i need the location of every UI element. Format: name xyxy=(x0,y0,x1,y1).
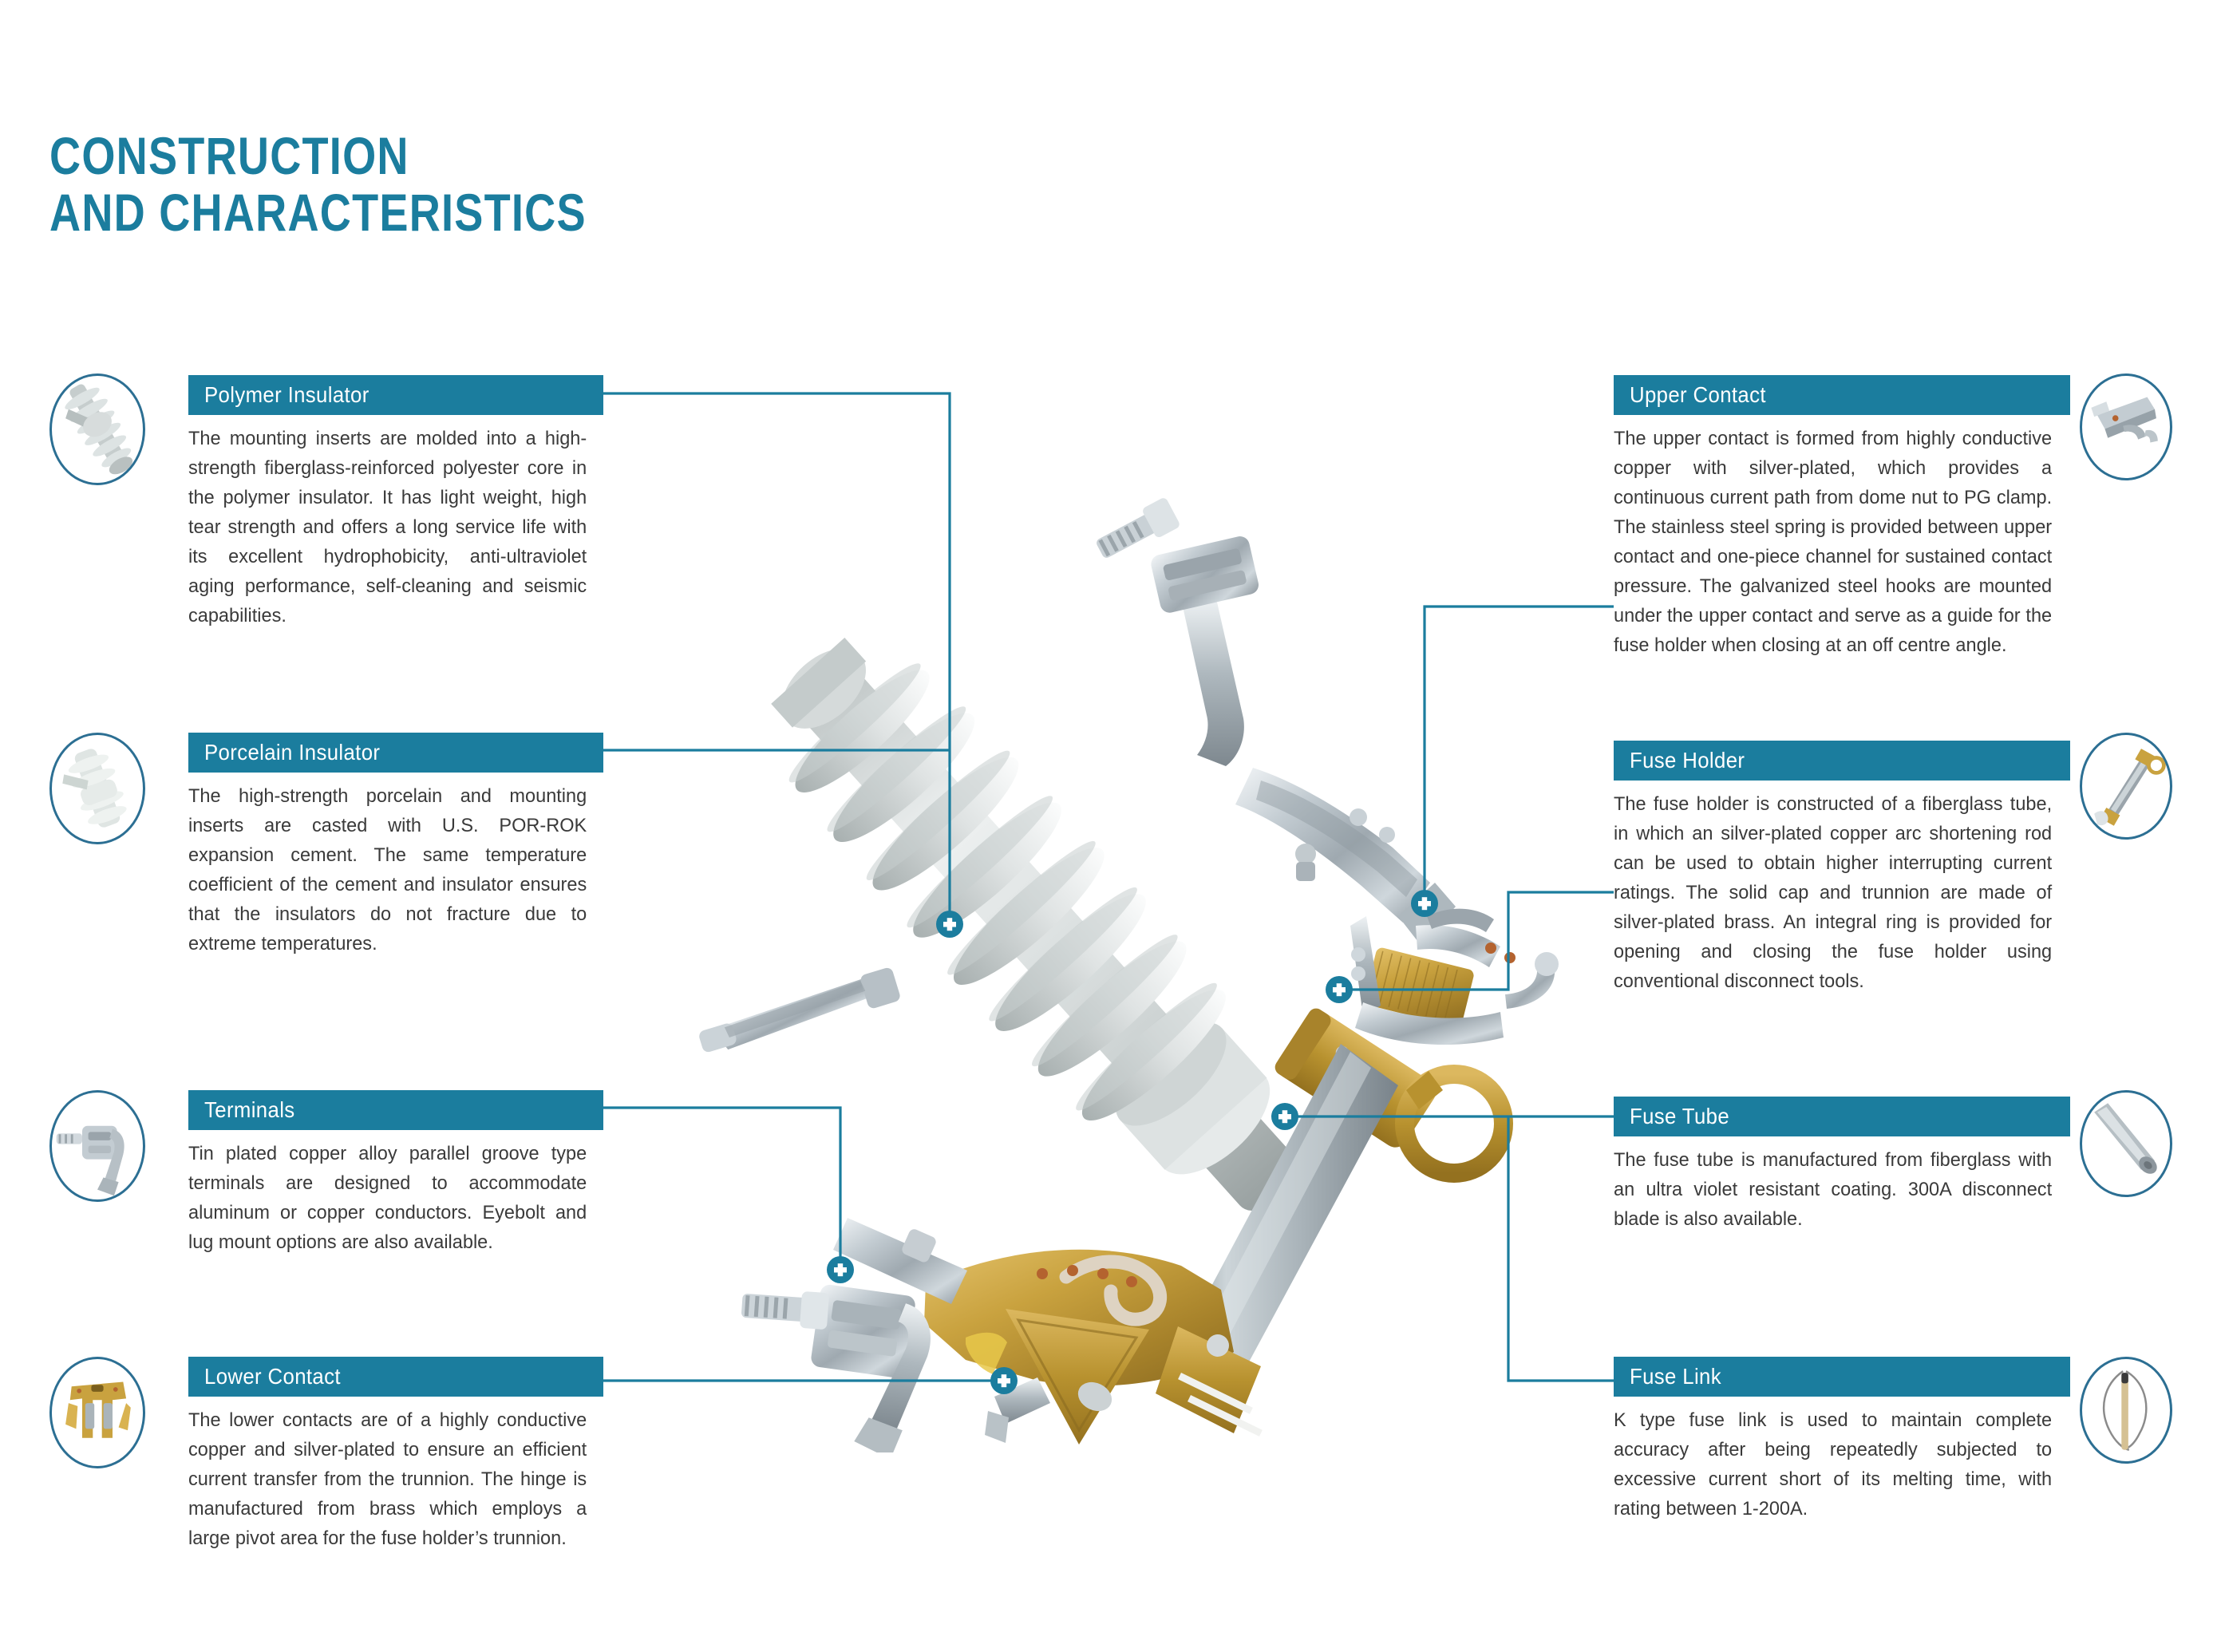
card-header-terminals: Terminals xyxy=(188,1090,603,1130)
pull-ring xyxy=(1405,1071,1504,1173)
card-body-polymer-insulator: The mounting inserts are molded into a h… xyxy=(188,424,587,630)
card-title-fuse-holder: Fuse Holder xyxy=(1630,741,1745,781)
icon-bubble-fuse-tube xyxy=(2080,1090,2172,1197)
card-lower-contact: Lower Contact The lower contacts are of … xyxy=(188,1357,603,1553)
card-upper-contact: Upper Contact The upper contact is forme… xyxy=(1614,375,2070,660)
card-body-fuse-tube: The fuse tube is manufactured from fiber… xyxy=(1614,1145,2052,1234)
fuse-tube-photo-icon xyxy=(2082,1093,2170,1194)
icon-bubble-lower-contact xyxy=(49,1357,145,1468)
construction-and-characteristics-page: CONSTRUCTION AND CHARACTERISTICS xyxy=(0,0,2217,1652)
card-title-porcelain-insulator: Porcelain Insulator xyxy=(204,733,380,773)
card-title-upper-contact: Upper Contact xyxy=(1630,375,1766,415)
fuse-link-photo-icon xyxy=(2082,1359,2170,1460)
card-terminals: Terminals Tin plated copper alloy parall… xyxy=(188,1090,603,1257)
card-body-upper-contact: The upper contact is formed from highly … xyxy=(1614,424,2052,660)
page-title-line-2: AND CHARACTERISTICS xyxy=(49,184,587,241)
card-body-porcelain-insulator: The high-strength porcelain and mounting… xyxy=(188,781,587,958)
card-title-fuse-link: Fuse Link xyxy=(1630,1357,1721,1397)
card-header-fuse-tube: Fuse Tube xyxy=(1614,1097,2070,1136)
card-fuse-holder: Fuse Holder The fuse holder is construct… xyxy=(1614,741,2070,996)
fuse-holder-photo-icon xyxy=(2082,735,2170,836)
lower-contact-photo-icon xyxy=(52,1359,143,1465)
card-fuse-link: Fuse Link K type fuse link is used to ma… xyxy=(1614,1357,2070,1524)
icon-bubble-polymer-insulator xyxy=(49,373,145,485)
card-title-terminals: Terminals xyxy=(204,1090,295,1130)
card-header-fuse-link: Fuse Link xyxy=(1614,1357,2070,1397)
card-header-polymer-insulator: Polymer Insulator xyxy=(188,375,603,415)
card-body-fuse-link: K type fuse link is used to maintain com… xyxy=(1614,1405,2052,1524)
card-header-porcelain-insulator: Porcelain Insulator xyxy=(188,733,603,773)
card-title-lower-contact: Lower Contact xyxy=(204,1357,341,1397)
upper-contact-photo-icon xyxy=(2082,376,2170,477)
icon-bubble-porcelain-insulator xyxy=(49,733,145,844)
card-body-fuse-holder: The fuse holder is constructed of a fibe… xyxy=(1614,789,2052,996)
polymer-insulator-photo-icon xyxy=(52,376,143,482)
icon-bubble-fuse-link xyxy=(2080,1357,2172,1464)
card-body-lower-contact: The lower contacts are of a highly condu… xyxy=(188,1405,587,1553)
card-title-fuse-tube: Fuse Tube xyxy=(1630,1097,1729,1136)
card-body-terminals: Tin plated copper alloy parallel groove … xyxy=(188,1139,587,1257)
cutout-fuse-product-image xyxy=(591,479,1612,1452)
polymer-insulator-part xyxy=(730,600,1351,1259)
icon-bubble-terminals xyxy=(49,1090,145,1202)
card-fuse-tube: Fuse Tube The fuse tube is manufactured … xyxy=(1614,1097,2070,1234)
terminal-clamp-part xyxy=(722,1273,936,1452)
card-porcelain-insulator: Porcelain Insulator The high-strength po… xyxy=(188,733,603,958)
upper-contact-part xyxy=(1092,496,1516,967)
card-header-upper-contact: Upper Contact xyxy=(1614,375,2070,415)
card-header-lower-contact: Lower Contact xyxy=(188,1357,603,1397)
icon-bubble-fuse-holder xyxy=(2080,733,2172,840)
mounting-bracket-part xyxy=(696,966,902,1060)
page-title: CONSTRUCTION AND CHARACTERISTICS xyxy=(49,128,705,242)
porcelain-insulator-photo-icon xyxy=(52,735,143,841)
card-polymer-insulator: Polymer Insulator The mounting inserts a… xyxy=(188,375,603,630)
icon-bubble-upper-contact xyxy=(2080,373,2172,480)
card-title-polymer-insulator: Polymer Insulator xyxy=(204,375,369,415)
page-title-line-1: CONSTRUCTION xyxy=(49,128,587,184)
card-header-fuse-holder: Fuse Holder xyxy=(1614,741,2070,781)
terminal-clamp-photo-icon xyxy=(52,1093,143,1199)
